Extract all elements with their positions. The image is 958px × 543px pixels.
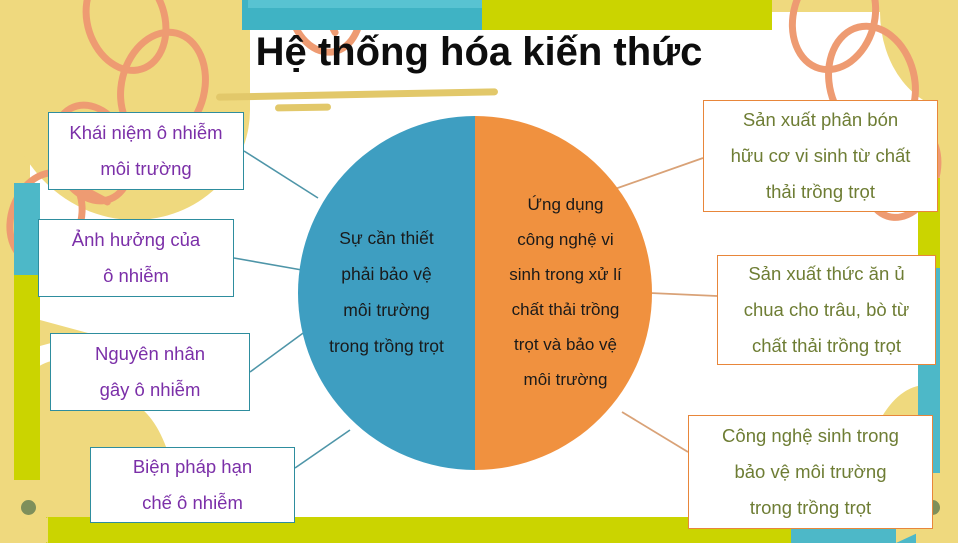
circle-left-line: Sự cần thiết [339, 221, 433, 257]
connector-left-2 [234, 258, 302, 270]
node-line: Công nghệ sinh trong [722, 418, 899, 454]
node-line: gây ô nhiễm [100, 372, 201, 408]
node-line: môi trường [100, 151, 191, 187]
node-line: chế ô nhiễm [142, 485, 243, 521]
circle-left-line: trong trồng trọt [329, 329, 444, 365]
circle-right-line: công nghệ vi [517, 223, 613, 258]
node-line: hữu cơ vi sinh từ chất [731, 138, 911, 174]
node-line: Biện pháp hạn [133, 449, 252, 485]
node-right-1[interactable]: Sản xuất phân bón hữu cơ vi sinh từ chất… [703, 100, 938, 212]
node-left-4[interactable]: Biện pháp hạn chế ô nhiễm [90, 447, 295, 523]
circle-half-right-text: Ứng dụng công nghệ vi sinh trong xử lí c… [475, 116, 654, 470]
node-line: Sản xuất thức ăn ủ [748, 256, 904, 292]
circle-right-line: Ứng dụng [528, 188, 604, 223]
node-line: ô nhiễm [103, 258, 169, 294]
circle-left-line: phải bảo vệ [341, 257, 432, 293]
node-left-1[interactable]: Khái niệm ô nhiễm môi trường [48, 112, 244, 190]
node-line: chua cho trâu, bò từ [744, 292, 910, 328]
node-line: bảo vệ môi trường [734, 454, 886, 490]
circle-half-right[interactable]: Ứng dụng công nghệ vi sinh trong xử lí c… [475, 116, 652, 470]
node-left-3[interactable]: Nguyên nhân gây ô nhiễm [50, 333, 250, 411]
node-right-3[interactable]: Công nghệ sinh trong bảo vệ môi trường t… [688, 415, 933, 529]
central-circle: Sự cần thiết phải bảo vệ môi trường tron… [298, 116, 652, 470]
slide-canvas: Hệ thống hóa kiến thức Sự cần thiết phải… [0, 0, 958, 543]
circle-right-line: môi trường [524, 363, 608, 398]
node-line: trong trồng trọt [750, 490, 871, 526]
circle-right-line: sinh trong xử lí [509, 258, 621, 293]
node-line: Khái niệm ô nhiễm [69, 115, 222, 151]
circle-right-line: chất thải trồng [512, 293, 620, 328]
circle-half-left-text: Sự cần thiết phải bảo vệ môi trường tron… [298, 116, 479, 470]
node-left-2[interactable]: Ảnh hưởng của ô nhiễm [38, 219, 234, 297]
circle-right-line: trọt và bảo vệ [514, 328, 617, 363]
node-right-2[interactable]: Sản xuất thức ăn ủ chua cho trâu, bò từ … [717, 255, 936, 365]
node-line: chất thải trồng trọt [752, 328, 901, 364]
node-line: Ảnh hưởng của [72, 222, 200, 258]
circle-half-left[interactable]: Sự cần thiết phải bảo vệ môi trường tron… [298, 116, 475, 470]
circle-left-line: môi trường [343, 293, 429, 329]
connector-right-2 [650, 293, 717, 296]
node-line: Sản xuất phân bón [743, 102, 898, 138]
node-line: Nguyên nhân [95, 336, 205, 372]
node-line: thải trồng trọt [766, 174, 875, 210]
